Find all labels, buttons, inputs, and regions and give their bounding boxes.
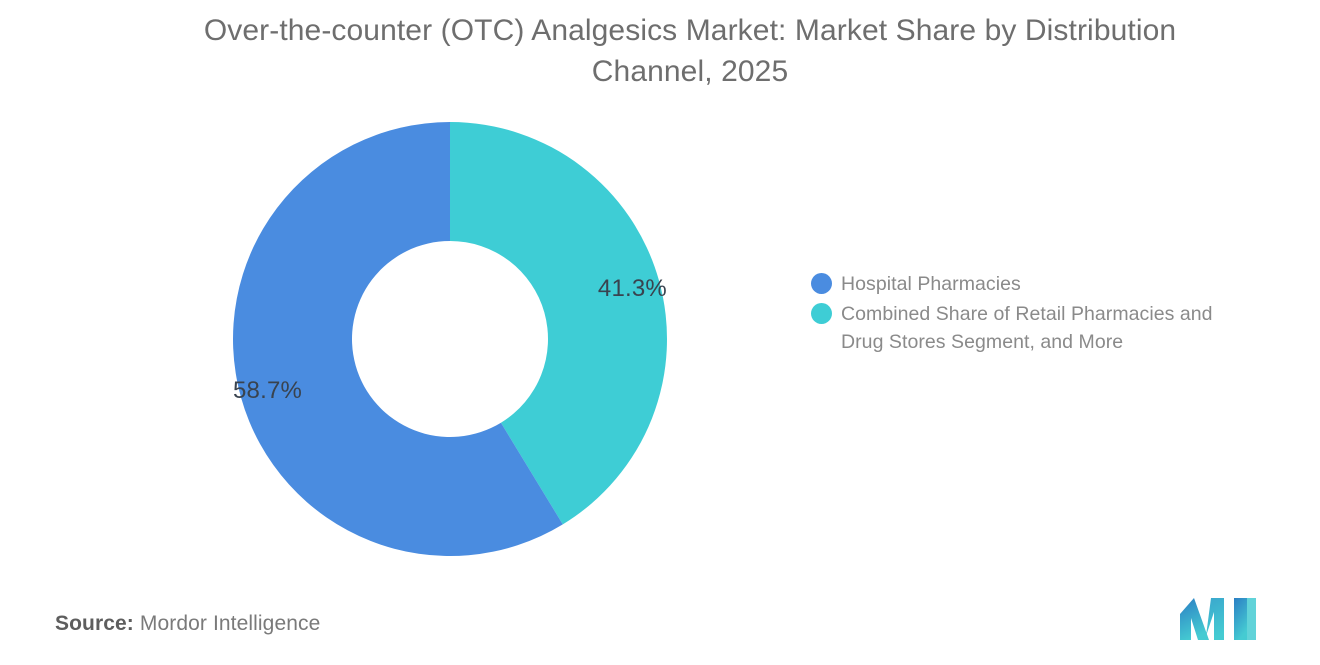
donut-slices: [233, 122, 667, 556]
chart-title-line-2: Channel, 2025: [160, 51, 1220, 92]
donut-slice-value-label: 58.7%: [233, 377, 302, 404]
legend-item-hospital-pharmacies[interactable]: Hospital Pharmacies: [811, 270, 1281, 298]
donut-slice-value-label: 41.3%: [598, 275, 667, 302]
legend-item-label: Combined Share of Retail Pharmacies and …: [841, 300, 1213, 356]
chart-canvas: Over-the-counter (OTC) Analgesics Market…: [0, 0, 1320, 665]
chart-title-line-1: Over-the-counter (OTC) Analgesics Market…: [160, 10, 1220, 51]
source-line: Source:Mordor Intelligence: [55, 612, 320, 636]
chart-title: Over-the-counter (OTC) Analgesics Market…: [160, 10, 1220, 92]
donut-chart-svg: 41.3%58.7%: [228, 117, 672, 561]
chart-legend: Hospital Pharmacies Combined Share of Re…: [811, 270, 1281, 358]
donut-chart: 41.3%58.7%: [228, 117, 672, 561]
source-value: Mordor Intelligence: [140, 612, 321, 635]
legend-color-swatch-icon: [811, 303, 832, 324]
legend-item-label: Hospital Pharmacies: [841, 270, 1021, 298]
source-label: Source:: [55, 612, 134, 635]
legend-label-line-2: Drug Stores Segment, and More: [841, 331, 1123, 353]
legend-label-line-1: Hospital Pharmacies: [841, 273, 1021, 295]
legend-color-swatch-icon: [811, 273, 832, 294]
legend-item-combined-retail-and-drug-stores[interactable]: Combined Share of Retail Pharmacies and …: [811, 300, 1281, 356]
legend-label-line-1: Combined Share of Retail Pharmacies and: [841, 303, 1213, 325]
mordor-intelligence-logo-icon: [1178, 596, 1258, 642]
